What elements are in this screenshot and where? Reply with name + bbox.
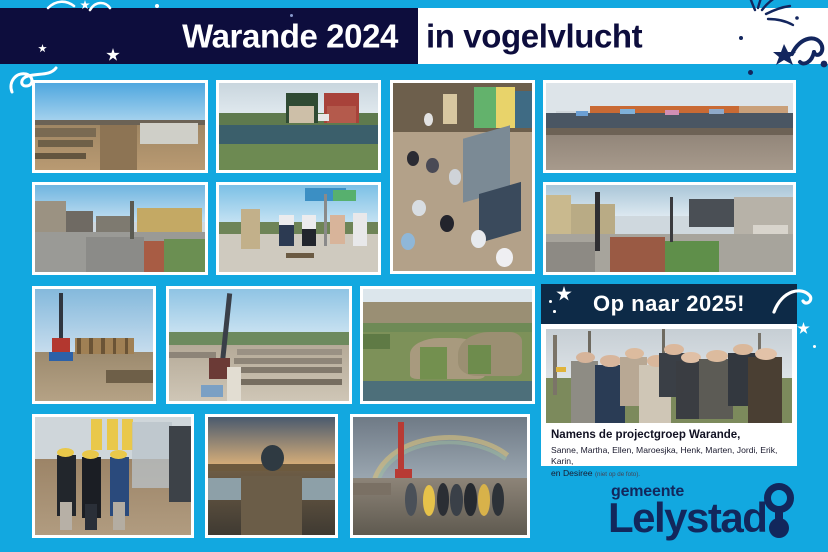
- photo-indoor-event: [390, 80, 535, 274]
- caption-names-line2: en Desiree (niet op de foto).: [551, 468, 787, 480]
- caption-title: Namens de projectgroep Warande,: [551, 429, 787, 443]
- banner-text: Op naar 2025!: [593, 293, 745, 315]
- photo-street-green: [543, 182, 796, 275]
- caption-names-text: en Desiree: [551, 468, 593, 478]
- photo-rainbow-walk: [350, 414, 530, 538]
- star-icon: [797, 322, 810, 335]
- rainbow-icon: [353, 417, 527, 488]
- photo-group-umbrellas: [543, 80, 796, 173]
- photo-new-houses-water: [216, 80, 381, 173]
- photo-finished-street: [32, 182, 208, 275]
- op-naar-2025-banner: Op naar 2025!: [541, 284, 797, 324]
- photo-aerial-landscape: [360, 286, 535, 404]
- project-team-card: Namens de projectgroep Warande, Sanne, M…: [541, 324, 797, 466]
- photo-sunset-track: [205, 414, 338, 538]
- page-title-secondary: in vogelvlucht: [426, 20, 642, 53]
- logo-mark-ball-icon: [769, 518, 789, 538]
- header: Warande 2024 in vogelvlucht: [0, 8, 828, 64]
- dot-decoration: [748, 70, 753, 75]
- photo-pile-driver: [32, 286, 156, 404]
- photo-hardhats-fountain: [32, 414, 194, 538]
- photo-project-team: [546, 329, 792, 423]
- caption-names-line1: Sanne, Martha, Ellen, Maroesjka, Henk, M…: [551, 445, 787, 468]
- poster-root: Warande 2024 in vogelvlucht: [0, 0, 828, 552]
- lelystad-logo: gemeente Lelystad: [600, 482, 800, 544]
- dot-decoration: [813, 345, 816, 348]
- project-team-caption: Namens de projectgroep Warande, Sanne, M…: [546, 423, 792, 480]
- caption-note: (niet op de foto).: [595, 471, 640, 478]
- page-title-primary: Warande 2024: [182, 20, 398, 53]
- photo-construction-road: [32, 80, 208, 173]
- photo-crane-foundations: [166, 286, 352, 404]
- logo-mark-ring-icon: [764, 483, 794, 513]
- logo-lelystad-text: Lelystad: [608, 497, 766, 539]
- photo-groundbreaking: [216, 182, 381, 275]
